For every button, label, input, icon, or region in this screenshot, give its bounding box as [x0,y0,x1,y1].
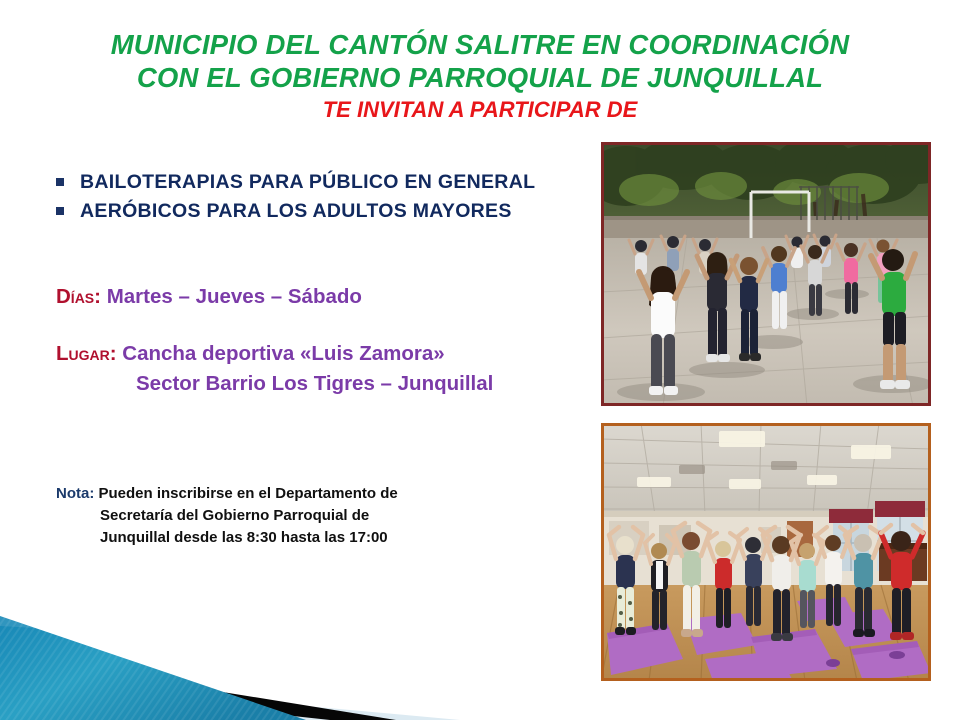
activities-list: Bailoterapias para público en general Ae… [56,168,596,226]
activity-label: Aeróbicos para los adultos mayores [80,200,512,223]
note-line-2: Secretaría del Gobierno Parroquial de [56,505,536,527]
corner-bands-artwork [0,560,520,720]
photo-indoor-seniors-class [601,423,931,681]
title-block: Municipio del Cantón Salitre en Coordina… [0,28,960,123]
photo-indoor-artwork [601,423,931,681]
days-row: Días: Martes – Jueves – Sábado [56,282,596,312]
list-item: Aeróbicos para los adultos mayores [56,197,596,225]
square-bullet-icon [56,178,64,186]
note-block: Nota: Pueden inscribirse en el Departame… [56,483,536,549]
details-spacer [56,312,596,339]
note-first-line: Nota: Pueden inscribirse en el Departame… [56,483,536,505]
note-label: Nota: [56,485,94,502]
note-line-3: Junquillal desde las 8:30 hasta las 17:0… [56,527,536,549]
photo-outdoor-dance-class [601,142,931,406]
diagonal-corner-bands-decoration [0,560,520,720]
venue-row-secondary: Sector Barrio Los Tigres – Junquillal [56,369,596,399]
photo-outdoor-artwork [601,142,931,406]
event-details: Días: Martes – Jueves – Sábado Lugar: Ca… [56,282,596,399]
venue-label: Lugar: [56,342,117,365]
note-line-1: Pueden inscribirse en el Departamento de [99,485,398,502]
slide-canvas: Municipio del Cantón Salitre en Coordina… [0,0,960,720]
venue-value-line-1: Cancha deportiva «Luis Zamora» [122,342,444,365]
venue-value-line-2: Sector Barrio Los Tigres – Junquillal [136,372,493,395]
title-line-1: Municipio del Cantón Salitre en Coordina… [0,28,960,61]
square-bullet-icon [56,207,64,215]
days-label: Días: [56,285,101,308]
days-value: Martes – Jueves – Sábado [107,285,362,308]
title-subtitle: Te invitan a participar de [0,97,960,123]
title-line-2: con el Gobierno Parroquial de Junquillal [0,61,960,94]
activity-label: Bailoterapias para público en general [80,171,535,194]
list-item: Bailoterapias para público en general [56,168,596,196]
venue-row: Lugar: Cancha deportiva «Luis Zamora» [56,339,596,369]
